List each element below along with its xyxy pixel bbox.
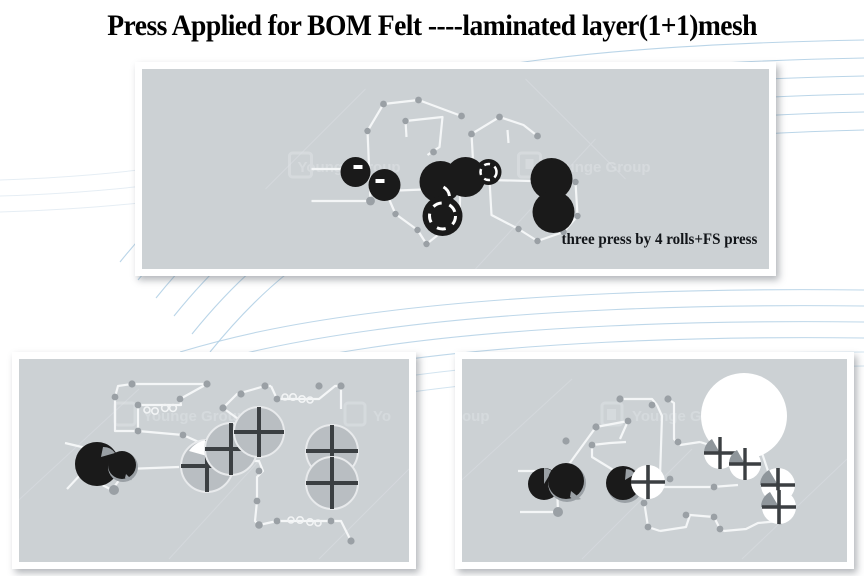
svg-text:oup: oup	[462, 408, 490, 425]
press-layout-bottom-left-canvas: Younge Group Yo	[19, 359, 409, 562]
watermark-left: oup	[462, 408, 490, 425]
roll-4	[631, 465, 665, 499]
roll-8	[533, 191, 575, 233]
roll-4	[423, 196, 463, 236]
roll-5	[234, 407, 284, 457]
press-layout-top-canvas: Younge Group Younge Group	[142, 69, 769, 269]
roll-7	[306, 457, 358, 509]
roll-1	[341, 157, 371, 187]
roll-2	[369, 169, 401, 201]
page-title: Press Applied for BOM Felt ----laminated…	[107, 11, 757, 41]
press-diagram-bottom-left: Younge Group Yo	[19, 359, 409, 562]
press-layout-bottom-right-canvas: oup Younge Gr	[462, 359, 847, 562]
svg-text:Younge Gr: Younge Gr	[632, 408, 708, 425]
press-layout-top-panel[interactable]: Younge Group Younge Group	[135, 62, 776, 276]
press-layout-bottom-right-panel[interactable]: oup Younge Gr	[455, 352, 854, 569]
roll-6	[729, 448, 761, 480]
slide-title-bar: Press Applied for BOM Felt ----laminated…	[0, 0, 864, 52]
press-diagram-bottom-right: oup Younge Gr	[462, 359, 847, 562]
press-layout-bottom-left-panel[interactable]: Younge Group Yo	[12, 352, 416, 569]
roll-6	[476, 159, 502, 185]
top-panel-caption: three press by 4 rolls+FS press	[561, 231, 757, 249]
svg-text:Yo: Yo	[373, 408, 391, 425]
